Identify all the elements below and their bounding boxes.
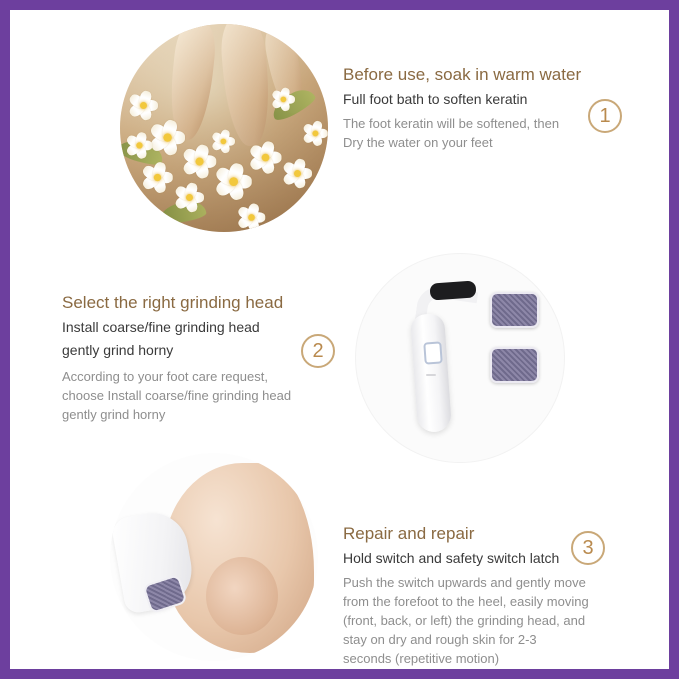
- step-3-text: Repair and repair Hold switch and safety…: [343, 524, 589, 668]
- device-black-head: [429, 280, 476, 300]
- step-3-body-line-4: stay on dry and rough skin for 2-3: [343, 630, 589, 649]
- step-2-subtitle-line-2: gently grind horny: [62, 342, 291, 358]
- step-2-body-line-3: gently grind horny: [62, 405, 291, 424]
- step-1-image-feet-in-flower-water-basin: [120, 24, 328, 232]
- step-1-title: Before use, soak in warm water: [343, 65, 581, 85]
- frame-border-right: [669, 0, 679, 679]
- step-3-body: Push the switch upwards and gently move …: [343, 573, 589, 668]
- step-2-subtitle: Install coarse/fine grinding head: [62, 319, 291, 335]
- step-2-body-line-1: According to your foot care request,: [62, 367, 291, 386]
- frangipani-flower-icon: [269, 85, 296, 112]
- step-3-body-line-3: (front, back, or left) the grinding head…: [343, 611, 589, 630]
- step-2-title: Select the right grinding head: [62, 293, 291, 313]
- step-1-text: Before use, soak in warm water Full foot…: [343, 65, 581, 152]
- step-1-body-line-2: Dry the water on your feet: [343, 133, 581, 152]
- device-switch-window: [423, 341, 442, 364]
- step-3-body-line-5: seconds (repetitive motion): [343, 649, 589, 668]
- frangipani-flower-icon: [246, 138, 283, 175]
- step-1-body: The foot keratin will be softened, then …: [343, 114, 581, 152]
- frangipani-flower-icon: [280, 156, 314, 190]
- grinding-head-coarse: [490, 292, 539, 328]
- grinding-head-fine: [490, 347, 539, 383]
- frangipani-flower-icon: [235, 201, 267, 232]
- step-1-body-line-1: The foot keratin will be softened, then: [343, 114, 581, 133]
- step-1-subtitle: Full foot bath to soften keratin: [343, 91, 581, 107]
- step-3-subtitle: Hold switch and safety switch latch: [343, 550, 589, 566]
- step-3-body-line-2: from the forefoot to the heel, easily mo…: [343, 592, 589, 611]
- step-3-title: Repair and repair: [343, 524, 589, 544]
- device-label-line: [426, 374, 436, 376]
- step-3-image-device-grinding-heel-of-foot: [110, 453, 318, 661]
- step-3-number-badge: 3: [571, 531, 605, 565]
- step-3-body-line-1: Push the switch upwards and gently move: [343, 573, 589, 592]
- step-1-number-badge: 1: [588, 99, 622, 133]
- frangipani-flower-icon: [209, 127, 236, 154]
- frangipani-flower-icon: [301, 119, 328, 148]
- step-2-image-foot-file-device-with-two-grinding-heads: [355, 253, 565, 463]
- frame-border-bottom: [0, 669, 679, 679]
- step-2-number-badge: 2: [301, 334, 335, 368]
- frangipani-flower-icon: [139, 159, 175, 195]
- frangipani-flower-icon: [172, 180, 206, 214]
- poster-content: Before use, soak in warm water Full foot…: [10, 10, 669, 669]
- step-2-text: Select the right grinding head Install c…: [62, 293, 291, 424]
- instruction-poster: Before use, soak in warm water Full foot…: [0, 0, 679, 679]
- frangipani-flower-icon: [124, 130, 155, 161]
- step-2-body-line-2: choose Install coarse/fine grinding head: [62, 386, 291, 405]
- frame-border-top: [0, 0, 679, 10]
- heel-shape: [206, 557, 278, 635]
- frame-border-left: [0, 0, 10, 679]
- step-2-body: According to your foot care request, cho…: [62, 367, 291, 424]
